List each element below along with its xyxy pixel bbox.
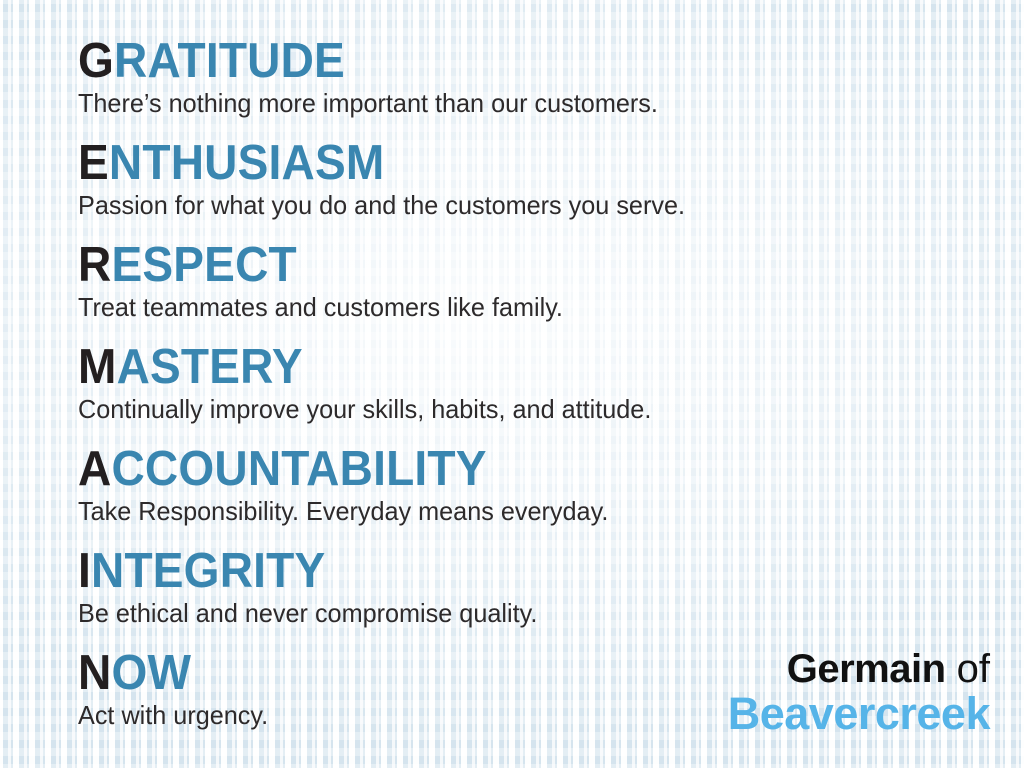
value-block-accountability: ACCOUNTABILITY Take Responsibility. Ever… (78, 444, 978, 527)
value-block-respect: RESPECT Treat teammates and customers li… (78, 240, 978, 323)
value-subtitle-accountability: Take Responsibility. Everyday means ever… (78, 496, 951, 527)
value-heading-enthusiasm: ENTHUSIASM (78, 138, 924, 188)
value-heading-respect: RESPECT (78, 240, 924, 290)
value-heading-remainder: CCOUNTABILITY (111, 442, 486, 496)
value-heading-gratitude: GRATITUDE (78, 36, 924, 86)
brand-name-line: Germain of (728, 648, 990, 690)
brand-location: Beavercreek (728, 690, 990, 738)
value-block-enthusiasm: ENTHUSIASM Passion for what you do and t… (78, 138, 978, 221)
value-initial-letter: R (78, 238, 111, 292)
value-heading-accountability: ACCOUNTABILITY (78, 444, 924, 494)
value-subtitle-gratitude: There’s nothing more important than our … (78, 88, 951, 119)
value-heading-remainder: OW (111, 646, 191, 700)
value-initial-letter: N (78, 646, 111, 700)
values-poster: GRATITUDE There’s nothing more important… (0, 0, 1024, 768)
value-block-gratitude: GRATITUDE There’s nothing more important… (78, 36, 978, 119)
value-subtitle-mastery: Continually improve your skills, habits,… (78, 394, 951, 425)
value-initial-letter: I (78, 544, 91, 598)
value-initial-letter: A (78, 442, 111, 496)
value-subtitle-enthusiasm: Passion for what you do and the customer… (78, 190, 951, 221)
value-heading-remainder: ESPECT (111, 238, 296, 292)
value-initial-letter: G (78, 34, 114, 88)
dealership-logo: Germain of Beavercreek (728, 648, 990, 738)
value-heading-integrity: INTEGRITY (78, 546, 924, 596)
value-heading-mastery: MASTERY (78, 342, 924, 392)
core-values-list: GRATITUDE There’s nothing more important… (78, 36, 978, 731)
value-initial-letter: E (78, 136, 109, 190)
value-block-integrity: INTEGRITY Be ethical and never compromis… (78, 546, 978, 629)
value-subtitle-respect: Treat teammates and customers like famil… (78, 292, 951, 323)
value-heading-remainder: NTHUSIASM (109, 136, 384, 190)
value-block-mastery: MASTERY Continually improve your skills,… (78, 342, 978, 425)
value-subtitle-integrity: Be ethical and never compromise quality. (78, 598, 951, 629)
brand-connector: of (946, 647, 990, 691)
value-heading-remainder: ASTERY (117, 340, 303, 394)
brand-name: Germain (787, 647, 946, 691)
value-initial-letter: M (78, 340, 117, 394)
value-heading-remainder: RATITUDE (114, 34, 345, 88)
value-heading-remainder: NTEGRITY (91, 544, 325, 598)
